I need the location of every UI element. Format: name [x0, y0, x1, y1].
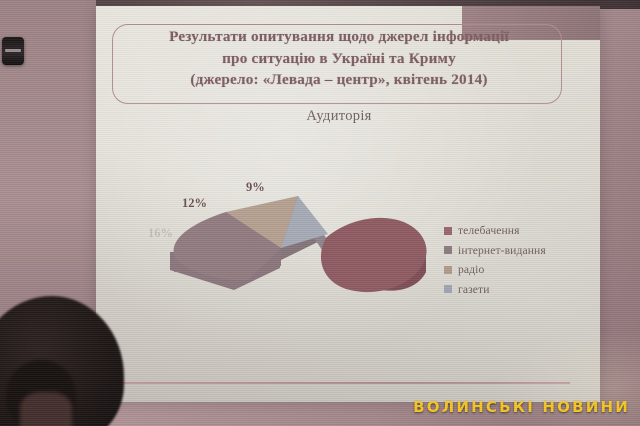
title-line-2: про ситуацію в Україні та Криму: [104, 48, 574, 70]
legend-swatch-icon: [444, 246, 452, 254]
legend-label: газети: [458, 283, 490, 296]
legend-item-internet-vydannya: інтернет-видання: [444, 241, 584, 261]
slide-subtitle: Аудиторія: [104, 108, 574, 125]
audience-neck: [20, 392, 72, 426]
pie-label-radio: 12%: [182, 196, 207, 211]
legend-item-gazety: газети: [444, 280, 584, 300]
wall-device-icon: [2, 37, 24, 65]
title-line-1: Результати опитування щодо джерел інформ…: [104, 26, 574, 48]
legend-item-telebachennya: телебачення: [444, 221, 584, 241]
device-slot-icon: [5, 49, 21, 52]
legend-label: телебачення: [458, 224, 520, 237]
pie-label-gazety: 9%: [246, 180, 265, 195]
watermark: ВОЛИНСЬКІ НОВИНИ: [413, 398, 630, 416]
pie-slice-telebachennya: [321, 218, 427, 292]
legend-label: радіо: [458, 263, 484, 276]
legend-swatch-icon: [444, 285, 452, 293]
photo-of-projected-slide: Результати опитування щодо джерел інформ…: [0, 0, 640, 426]
chart-legend: телебачення інтернет-видання радіо газет…: [444, 221, 584, 299]
legend-swatch-icon: [444, 227, 452, 235]
legend-swatch-icon: [444, 266, 452, 274]
legend-label: інтернет-видання: [458, 244, 546, 257]
slide-title: Результати опитування щодо джерел інформ…: [104, 26, 574, 91]
pie-label-internet: 16%: [148, 226, 173, 241]
pie-chart: 12% 9% 16%: [130, 160, 430, 330]
pie-chart-svg: [130, 160, 430, 330]
legend-item-radio: радіо: [444, 260, 584, 280]
title-line-3: (джерело: «Левада – центр», квітень 2014…: [104, 69, 574, 91]
